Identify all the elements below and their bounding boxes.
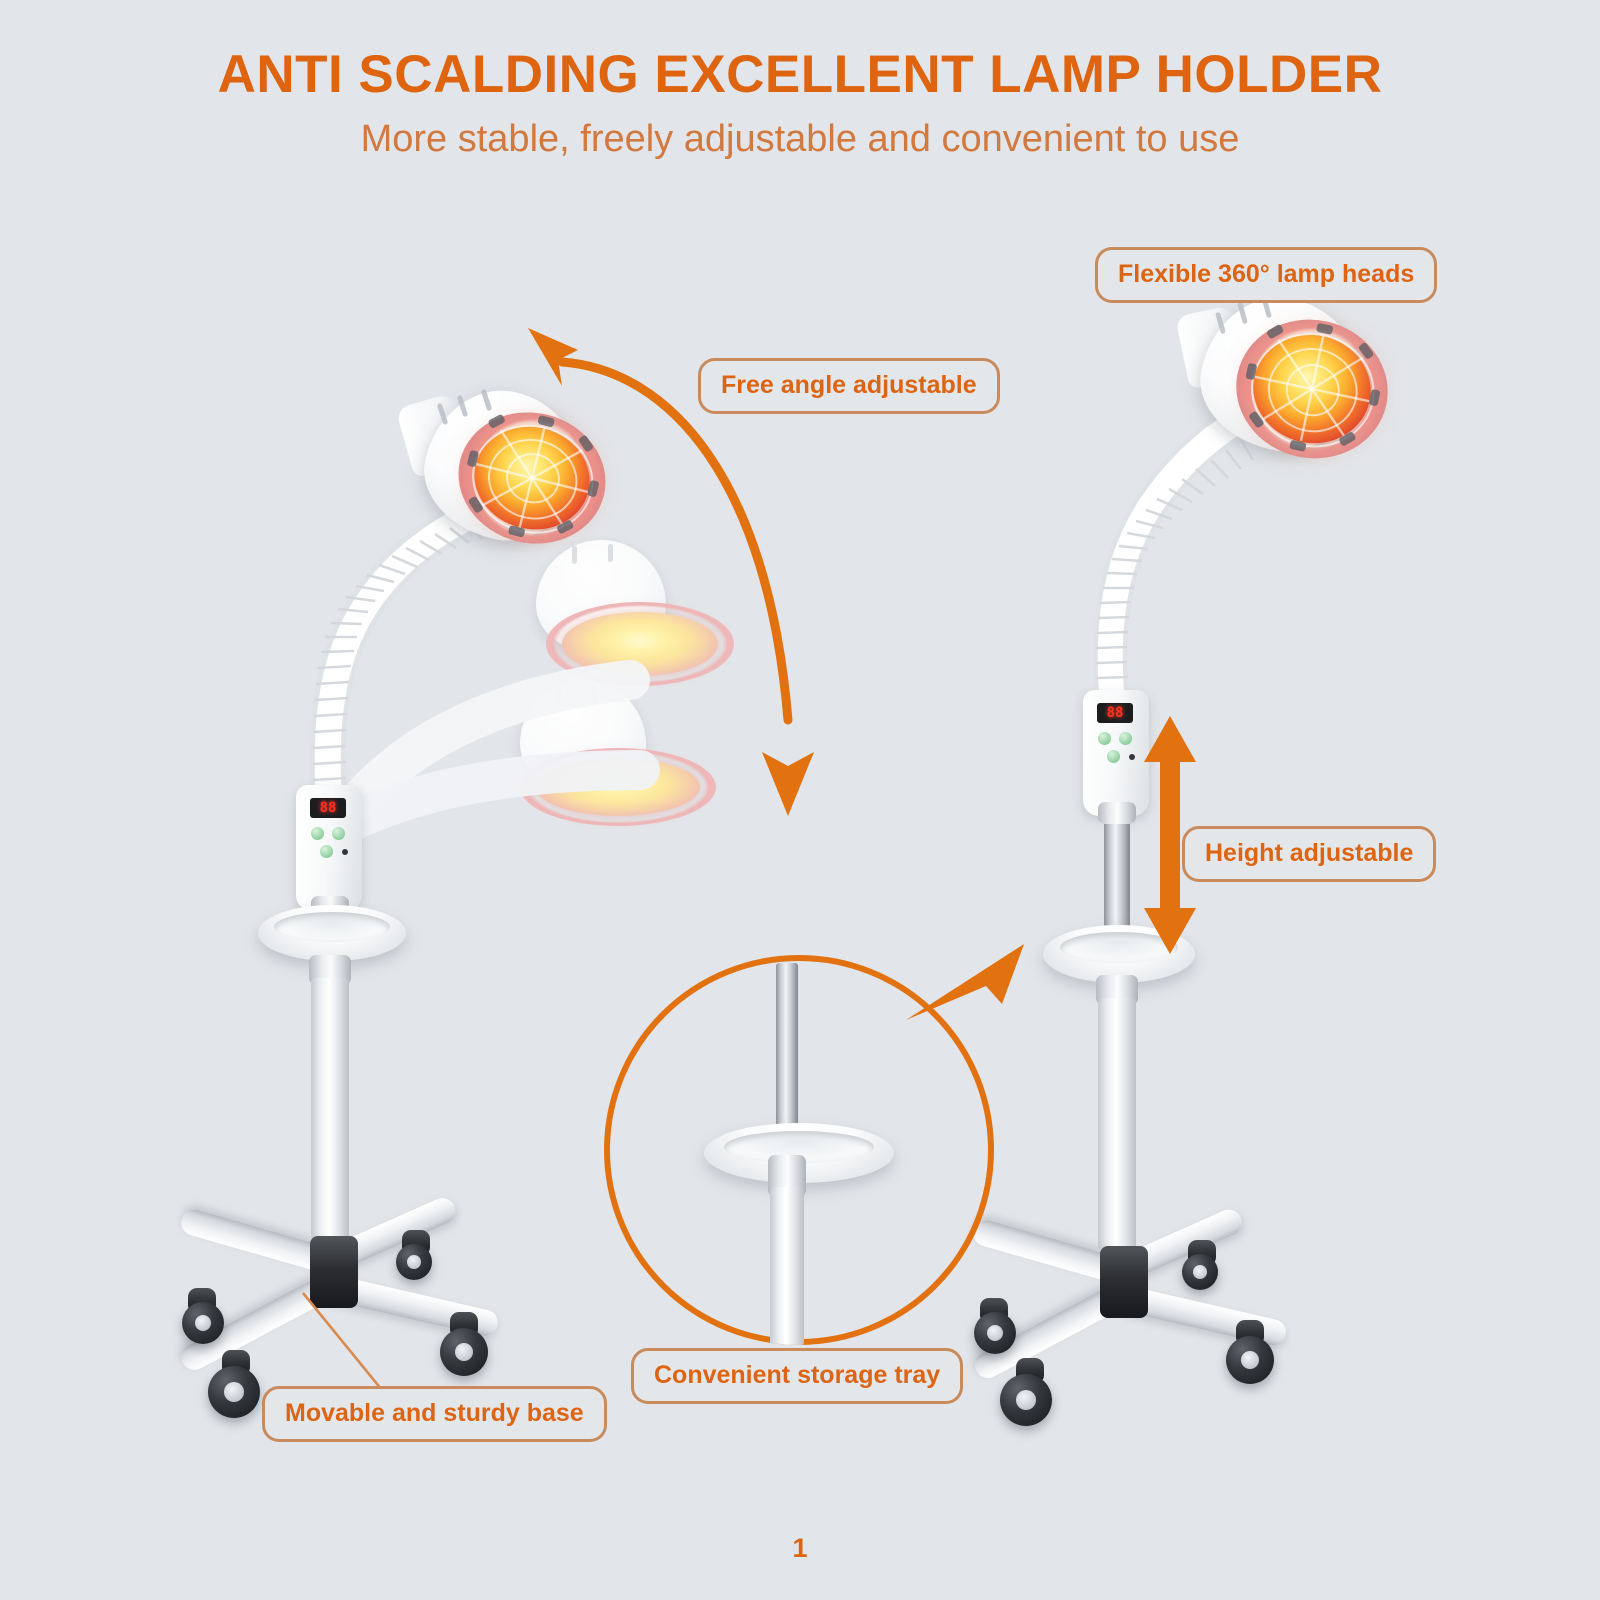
right-caster-wheel-bl	[974, 1312, 1016, 1354]
right-base-leg-back-left	[970, 1217, 1121, 1283]
callout-movable-base[interactable]: Movable and sturdy base	[262, 1386, 607, 1442]
callout-storage-tray-label: Convenient storage tray	[654, 1361, 940, 1389]
left-tray-lip	[274, 912, 390, 942]
callout-height-adjustable[interactable]: Height adjustable	[1182, 826, 1436, 882]
callout-flexible-heads-label: Flexible 360° lamp heads	[1118, 260, 1414, 288]
left-indicator-dot	[342, 849, 348, 855]
left-button-up[interactable]	[311, 827, 324, 840]
callout-storage-tray[interactable]: Convenient storage tray	[631, 1348, 963, 1404]
callout-free-angle-label: Free angle adjustable	[721, 371, 977, 399]
right-caster-wheel-fl	[1000, 1374, 1052, 1426]
right-caster-hub-fl	[1016, 1390, 1036, 1410]
right-caster-wheel-fr	[1226, 1336, 1274, 1384]
left-led-display: 88	[310, 798, 346, 818]
right-caster-wheel-br	[1182, 1254, 1218, 1290]
left-caster-wheel-br	[396, 1244, 432, 1280]
right-caster-hub-bl	[987, 1325, 1003, 1341]
left-caster-hub-fr	[455, 1343, 473, 1361]
callout-height-adjustable-label: Height adjustable	[1205, 839, 1413, 867]
right-led-value: 88	[1107, 706, 1124, 720]
right-caster-hub-br	[1193, 1265, 1207, 1279]
left-button-power[interactable]	[320, 845, 333, 858]
callout-movable-base-label: Movable and sturdy base	[285, 1399, 584, 1427]
left-caster-hub-br	[407, 1255, 421, 1269]
callout-free-angle[interactable]: Free angle adjustable	[698, 358, 1000, 414]
right-indicator-dot	[1129, 754, 1135, 760]
right-button-down[interactable]	[1119, 732, 1132, 745]
left-control-panel[interactable]: 88	[296, 785, 362, 911]
left-base-leg-back-left	[178, 1207, 331, 1274]
left-storage-tray	[258, 905, 406, 961]
movable-base-leader-line	[300, 1290, 420, 1400]
infographic-canvas: ANTI SCALDING EXCELLENT LAMP HOLDER More…	[0, 0, 1600, 1600]
right-button-power[interactable]	[1107, 750, 1120, 763]
left-caster-wheel-fl	[208, 1366, 260, 1418]
right-lamp-head	[1180, 288, 1410, 498]
callout-flexible-heads[interactable]: Flexible 360° lamp heads	[1095, 247, 1437, 303]
detail-chrome-pole	[776, 963, 798, 1143]
left-led-value: 88	[320, 801, 337, 815]
right-led-display: 88	[1097, 703, 1133, 723]
right-pole-collar-top	[1098, 802, 1136, 824]
right-button-up[interactable]	[1098, 732, 1111, 745]
left-caster-hub-fl	[224, 1382, 244, 1402]
detail-circle-pointer-arrow	[900, 940, 1080, 1050]
right-head-bulb-disc	[1223, 306, 1400, 473]
right-base-center-hub	[1100, 1246, 1148, 1318]
right-lamp-assembly: 88	[880, 0, 1600, 1500]
left-caster-hub-bl	[195, 1315, 211, 1331]
left-button-down[interactable]	[332, 827, 345, 840]
page-number: 1	[0, 1533, 1600, 1564]
left-caster-wheel-fr	[440, 1328, 488, 1376]
right-caster-hub-fr	[1241, 1351, 1259, 1369]
detail-outer-pole	[770, 1187, 804, 1345]
right-base-assembly	[930, 1210, 1330, 1440]
left-caster-wheel-bl	[182, 1302, 224, 1344]
